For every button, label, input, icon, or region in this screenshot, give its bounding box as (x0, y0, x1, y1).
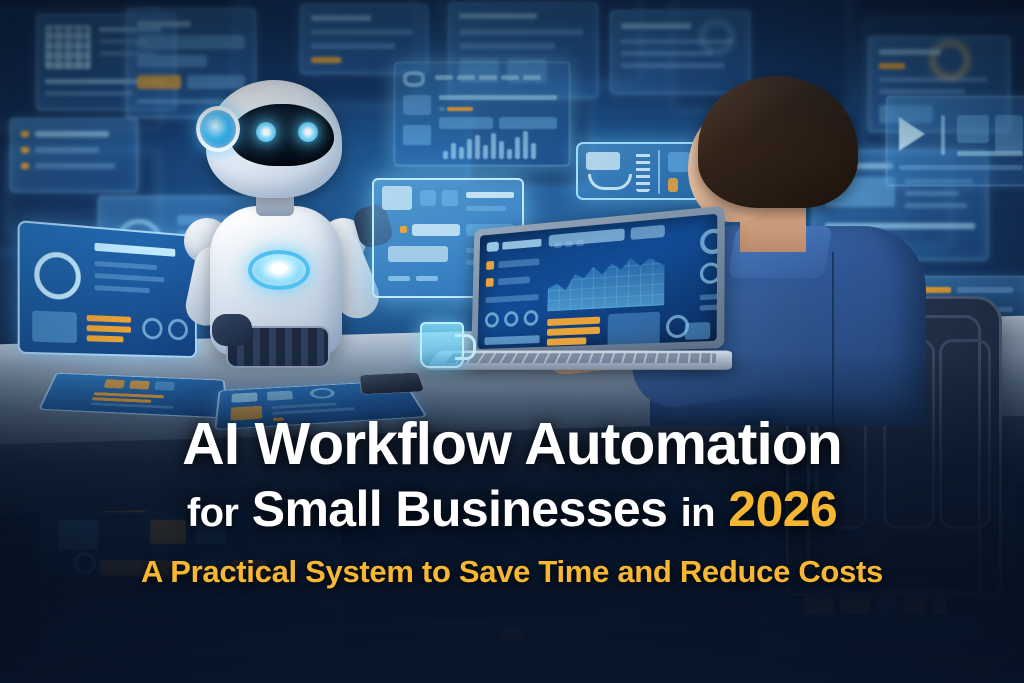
title-block: AI Workflow Automation for Small Busines… (0, 414, 1024, 590)
banner-image: AI Workflow Automation for Small Busines… (0, 0, 1024, 683)
headline-line-2: for Small Businesses in 2026 (28, 482, 996, 536)
headline-connector: in (681, 491, 715, 535)
headline-line-1: AI Workflow Automation (28, 414, 996, 474)
headline-main: Small Businesses (252, 481, 668, 537)
headline-year: 2026 (728, 481, 837, 537)
subtitle: A Practical System to Save Time and Redu… (28, 554, 996, 590)
headline-prefix: for (187, 491, 239, 535)
